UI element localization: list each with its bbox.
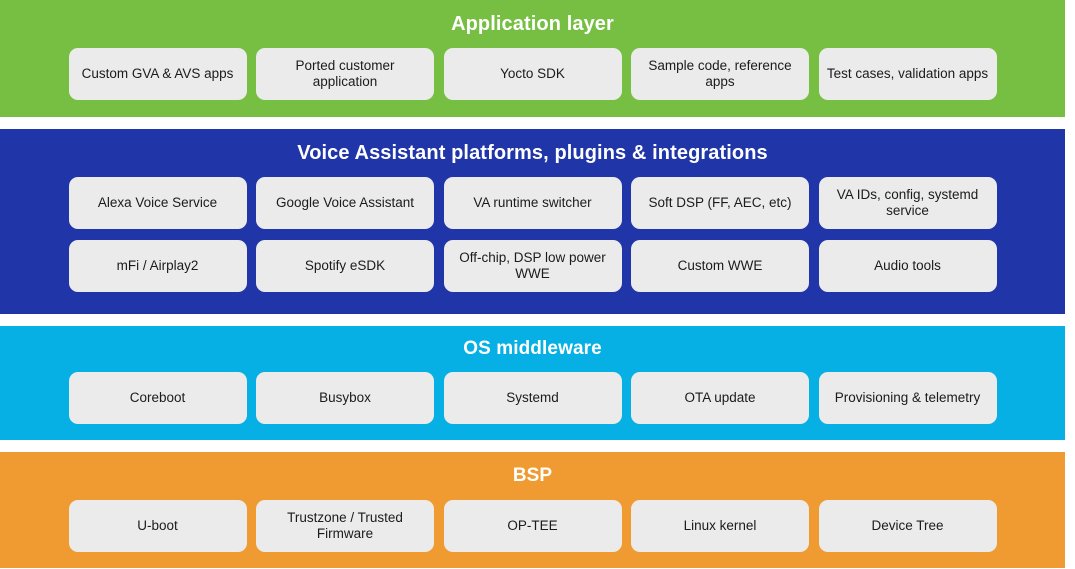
block-audio-tools[interactable]: Audio tools [819, 240, 997, 292]
block-op-tee[interactable]: OP-TEE [444, 500, 622, 552]
layer-voice-assistant: Voice Assistant platforms, plugins & int… [0, 129, 1065, 314]
block-soft-dsp[interactable]: Soft DSP (FF, AEC, etc) [631, 177, 809, 229]
block-busybox[interactable]: Busybox [256, 372, 434, 424]
block-sample-code-reference-apps[interactable]: Sample code, reference apps [631, 48, 809, 100]
block-systemd[interactable]: Systemd [444, 372, 622, 424]
architecture-stack-diagram: Application layer Custom GVA & AVS apps … [0, 0, 1075, 569]
block-provisioning-telemetry[interactable]: Provisioning & telemetry [819, 372, 997, 424]
block-va-runtime-switcher[interactable]: VA runtime switcher [444, 177, 622, 229]
block-linux-kernel[interactable]: Linux kernel [631, 500, 809, 552]
layer-title-bsp: BSP [513, 465, 552, 487]
block-alexa-voice-service[interactable]: Alexa Voice Service [69, 177, 247, 229]
block-mfi-airplay2[interactable]: mFi / Airplay2 [69, 240, 247, 292]
block-custom-wwe[interactable]: Custom WWE [631, 240, 809, 292]
block-trustzone-trusted-firmware[interactable]: Trustzone / Trusted Firmware [256, 500, 434, 552]
layer-voice-row-1: Alexa Voice Service Google Voice Assista… [69, 177, 997, 229]
layer-title-os-middleware: OS middleware [463, 338, 602, 360]
block-device-tree[interactable]: Device Tree [819, 500, 997, 552]
layer-application: Application layer Custom GVA & AVS apps … [0, 0, 1065, 117]
layer-os-middleware: OS middleware Coreboot Busybox Systemd O… [0, 326, 1065, 440]
layer-voice-row-2: mFi / Airplay2 Spotify eSDK Off-chip, DS… [69, 240, 997, 292]
block-test-cases-validation-apps[interactable]: Test cases, validation apps [819, 48, 997, 100]
block-custom-gva-avs-apps[interactable]: Custom GVA & AVS apps [69, 48, 247, 100]
block-google-voice-assistant[interactable]: Google Voice Assistant [256, 177, 434, 229]
layer-bsp: BSP U-boot Trustzone / Trusted Firmware … [0, 452, 1065, 568]
block-ota-update[interactable]: OTA update [631, 372, 809, 424]
block-spotify-esdk[interactable]: Spotify eSDK [256, 240, 434, 292]
block-off-chip-dsp-low-power-wwe[interactable]: Off-chip, DSP low power WWE [444, 240, 622, 292]
block-coreboot[interactable]: Coreboot [69, 372, 247, 424]
layer-title-application: Application layer [451, 13, 614, 36]
layer-middleware-row-1: Coreboot Busybox Systemd OTA update Prov… [69, 372, 997, 424]
layer-title-voice-assistant: Voice Assistant platforms, plugins & int… [297, 142, 768, 165]
layer-application-row-1: Custom GVA & AVS apps Ported customer ap… [69, 48, 997, 100]
block-va-ids-config-systemd-service[interactable]: VA IDs, config, systemd service [819, 177, 997, 229]
block-ported-customer-application[interactable]: Ported customer application [256, 48, 434, 100]
layer-bsp-row-1: U-boot Trustzone / Trusted Firmware OP-T… [69, 500, 997, 552]
block-yocto-sdk[interactable]: Yocto SDK [444, 48, 622, 100]
block-u-boot[interactable]: U-boot [69, 500, 247, 552]
